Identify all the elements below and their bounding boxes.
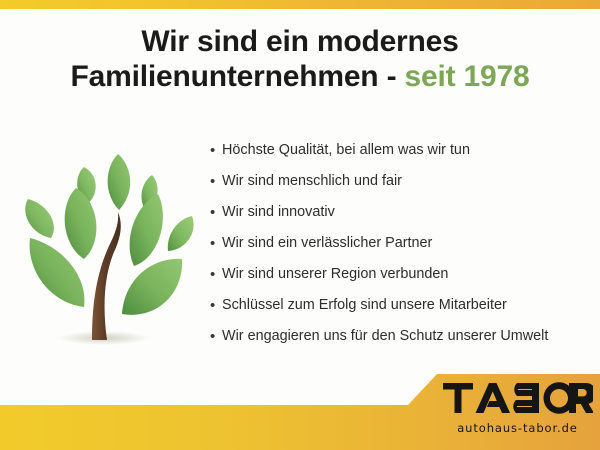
list-item: • Wir sind innovativ <box>206 203 596 234</box>
list-item-label: Wir sind unserer Region verbunden <box>222 265 448 284</box>
tree-leaf <box>168 216 194 251</box>
tree-trunk <box>92 212 121 340</box>
list-item-label: Höchste Qualität, bei allem was wir tun <box>222 141 470 160</box>
company-logo[interactable]: autohaus-tabor.de <box>440 381 595 435</box>
bullet-marker-icon: • <box>206 296 222 315</box>
slide-root: Wir sind ein modernes Familienunternehme… <box>0 0 600 450</box>
page-title: Wir sind ein modernes Familienunternehme… <box>0 24 600 95</box>
list-item-label: Wir engagieren uns für den Schutz unsere… <box>222 327 548 346</box>
bullet-marker-icon: • <box>206 327 222 346</box>
tree-leaf <box>108 154 131 210</box>
list-item-label: Wir sind menschlich und fair <box>222 172 402 191</box>
list-item: • Schlüssel zum Erfolg sind unsere Mitar… <box>206 296 596 327</box>
headline-line-1: Wir sind ein modernes <box>0 24 600 59</box>
tree-leaf <box>130 194 163 266</box>
top-accent-bar <box>0 0 600 9</box>
bullet-marker-icon: • <box>206 141 222 160</box>
list-item: • Wir sind unserer Region verbunden <box>206 265 596 296</box>
list-item-label: Schlüssel zum Erfolg sind unsere Mitarbe… <box>222 296 507 315</box>
logo-url-label: autohaus-tabor.de <box>440 421 595 435</box>
list-item: • Wir sind menschlich und fair <box>206 172 596 203</box>
headline-line-2: Familienunternehmen - seit 1978 <box>0 59 600 94</box>
list-item: • Wir sind ein verlässlicher Partner <box>206 234 596 265</box>
bullet-marker-icon: • <box>206 172 222 191</box>
bullet-marker-icon: • <box>206 234 222 253</box>
benefits-list: • Höchste Qualität, bei allem was wir tu… <box>206 141 596 358</box>
headline-line-2-prefix: Familienunternehmen - <box>71 60 405 93</box>
tree-illustration <box>6 142 206 377</box>
bullet-marker-icon: • <box>206 203 222 222</box>
bullet-marker-icon: • <box>206 265 222 284</box>
list-item-label: Wir sind ein verlässlicher Partner <box>222 234 432 253</box>
tabor-wordmark-icon <box>443 381 593 415</box>
list-item: • Höchste Qualität, bei allem was wir tu… <box>206 141 596 172</box>
tree-leaf <box>122 259 182 315</box>
tree-leaf <box>25 199 54 238</box>
headline-accent: seit 1978 <box>405 60 530 93</box>
list-item: • Wir engagieren uns für den Schutz unse… <box>206 327 596 358</box>
list-item-label: Wir sind innovativ <box>222 203 335 222</box>
